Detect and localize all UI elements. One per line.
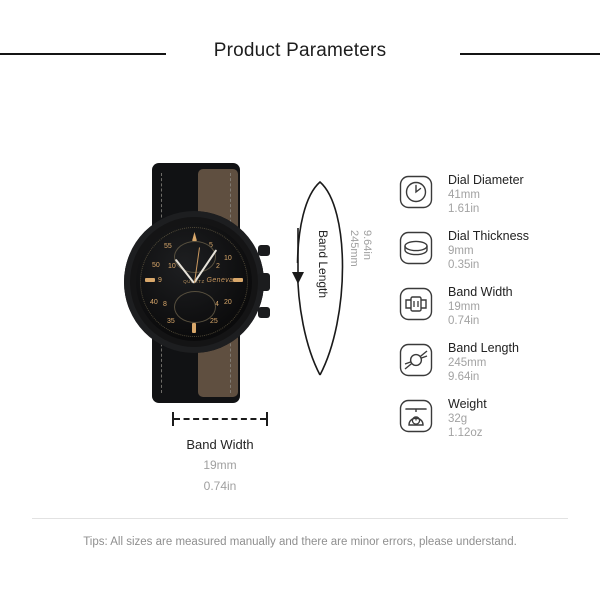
band-width-diagram: Band Width 19mm 0.74in: [130, 412, 310, 492]
header-rule-right: [460, 53, 600, 55]
dial-number-10-inner: 10: [168, 263, 176, 270]
spec-text-band-length: Band Length 245mm 9.64in: [448, 340, 519, 384]
page-title: Product Parameters: [0, 40, 600, 62]
page-header: Product Parameters: [0, 0, 600, 92]
dial-number-8: 8: [163, 301, 167, 308]
band-width-diagram-value-in: 0.74in: [130, 478, 310, 494]
band-length-diagram-value-in: 9.64in: [361, 230, 373, 260]
spec-value-metric: 32g: [448, 412, 487, 426]
spec-row-weight: Weight 32g 1.12oz: [398, 396, 588, 452]
footer-tip-text: Tips: All sizes are measured manually an…: [0, 536, 600, 548]
spec-value-metric: 41mm: [448, 188, 524, 202]
spec-row-band-width: Band Width 19mm 0.74in: [398, 284, 588, 340]
spec-name: Band Length: [448, 341, 519, 356]
watch-pusher-top: [258, 245, 270, 256]
spec-value-imperial: 9.64in: [448, 370, 519, 384]
specification-list: Dial Diameter 41mm 1.61in Dial Thickness…: [398, 172, 588, 452]
arrow-head-icon: [292, 272, 304, 284]
dimension-dashes: [174, 418, 266, 420]
band-length-diagram-label: Band Length: [316, 230, 330, 298]
spec-row-band-length: Band Length 245mm 9.64in: [398, 340, 588, 396]
index-6: [192, 323, 196, 333]
weight-icon: [398, 398, 434, 434]
dial-number-35: 35: [167, 318, 175, 325]
dial-number-2: 2: [216, 263, 220, 270]
spec-value-imperial: 0.74in: [448, 314, 513, 328]
subdial-bottom: [174, 291, 216, 323]
spec-text-weight: Weight 32g 1.12oz: [448, 396, 487, 440]
spec-value-metric: 9mm: [448, 244, 529, 258]
band-width-diagram-value-mm: 19mm: [130, 457, 310, 473]
watch-pusher-bottom: [258, 307, 270, 318]
spec-text-dial-thickness: Dial Thickness 9mm 0.35in: [448, 228, 529, 272]
spec-text-dial-diameter: Dial Diameter 41mm 1.61in: [448, 172, 524, 216]
dial-diameter-icon: [398, 174, 434, 210]
band-length-icon: [398, 342, 434, 378]
spec-value-metric: 19mm: [448, 300, 513, 314]
spec-name: Dial Thickness: [448, 229, 529, 244]
dimension-cap-right: [266, 412, 268, 426]
spec-name: Weight: [448, 397, 487, 412]
watch-dial: 55 50 40 35 25 20 10 5 4 8 9 2 10 QUARTZ…: [136, 223, 252, 341]
spec-text-band-width: Band Width 19mm 0.74in: [448, 284, 513, 328]
dimension-line: [172, 412, 268, 426]
band-width-diagram-label: Band Width: [130, 437, 310, 452]
band-length-diagram-value-mm: 245mm: [348, 230, 360, 267]
dial-number-10-outer: 10: [224, 255, 232, 262]
spec-name: Band Width: [448, 285, 513, 300]
spec-row-dial-thickness: Dial Thickness 9mm 0.35in: [398, 228, 588, 284]
dial-brand-text: Geneva: [136, 277, 278, 284]
dial-number-25: 25: [210, 318, 218, 325]
dial-thickness-icon: [398, 230, 434, 266]
band-length-diagram: Band Length 245mm 9.64in: [276, 168, 386, 383]
spec-value-imperial: 0.35in: [448, 258, 529, 272]
spec-value-imperial: 1.61in: [448, 202, 524, 216]
watch-product-image: 55 50 40 35 25 20 10 5 4 8 9 2 10 QUARTZ…: [118, 163, 274, 401]
spec-value-imperial: 1.12oz: [448, 426, 487, 440]
watch-case: 55 50 40 35 25 20 10 5 4 8 9 2 10 QUARTZ…: [124, 211, 264, 353]
band-width-icon: [398, 286, 434, 322]
spec-name: Dial Diameter: [448, 173, 524, 188]
spec-value-metric: 245mm: [448, 356, 519, 370]
dial-number-20: 20: [224, 299, 232, 306]
dial-number-40: 40: [150, 299, 158, 306]
band-length-loop-svg: [276, 168, 386, 383]
spec-row-dial-diameter: Dial Diameter 41mm 1.61in: [398, 172, 588, 228]
dial-number-50: 50: [152, 262, 160, 269]
dial-number-55: 55: [164, 243, 172, 250]
footer-divider: [32, 518, 568, 519]
